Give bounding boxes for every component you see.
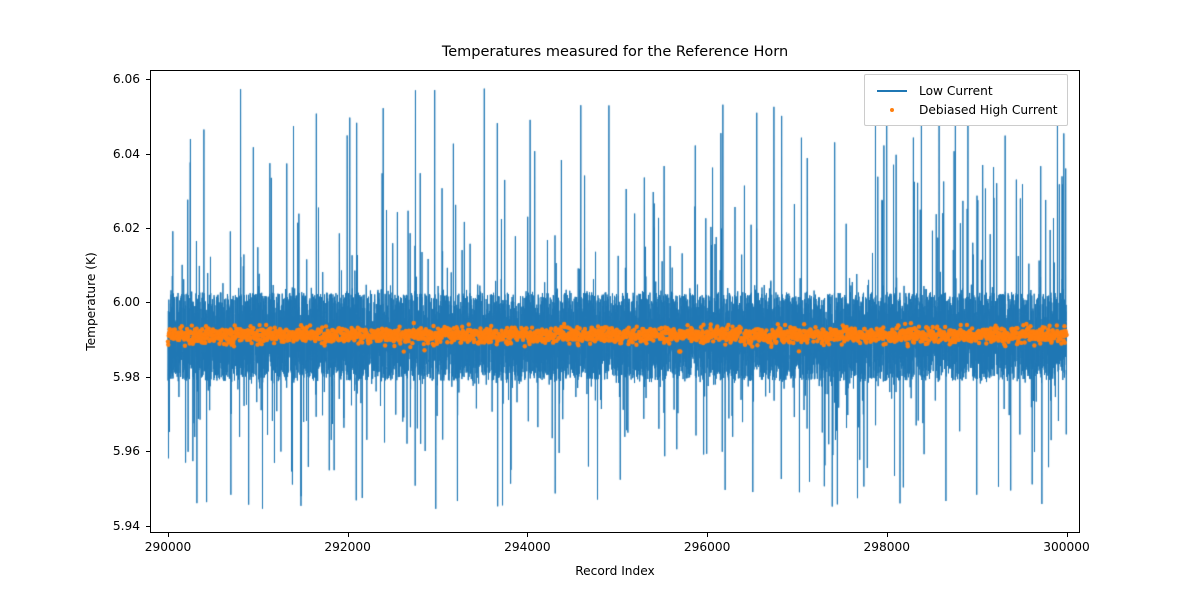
y-tick-label: 6.02 — [113, 221, 140, 235]
x-tick-mark — [707, 533, 708, 537]
x-tick-mark — [348, 533, 349, 537]
y-tick-label: 6.04 — [113, 147, 140, 161]
plot-data-canvas — [151, 71, 1079, 532]
x-tick-label: 298000 — [864, 540, 911, 554]
y-tick-label: 6.06 — [113, 72, 140, 86]
x-tick-label: 296000 — [684, 540, 731, 554]
y-tick-mark — [146, 526, 150, 527]
matplotlib-figure: Temperatures measured for the Reference … — [0, 0, 1200, 600]
y-tick-mark — [146, 302, 150, 303]
y-tick-label: 6.00 — [113, 295, 140, 309]
y-tick-label: 5.94 — [113, 519, 140, 533]
x-tick-mark — [1067, 533, 1068, 537]
x-axis-label: Record Index — [150, 564, 1080, 578]
legend-line-icon — [874, 90, 910, 92]
y-tick-mark — [146, 377, 150, 378]
legend-marker-icon — [874, 108, 910, 112]
legend-label-debiased-high-current: Debiased High Current — [910, 103, 1058, 117]
x-tick-label: 300000 — [1043, 540, 1090, 554]
x-tick-mark — [527, 533, 528, 537]
x-tick-mark — [168, 533, 169, 537]
x-tick-label: 294000 — [504, 540, 551, 554]
legend-label-low-current: Low Current — [910, 84, 993, 98]
y-tick-mark — [146, 154, 150, 155]
y-tick-label: 5.96 — [113, 444, 140, 458]
x-tick-mark — [887, 533, 888, 537]
y-tick-mark — [146, 451, 150, 452]
y-tick-mark — [146, 79, 150, 80]
chart-legend: Low Current Debiased High Current — [864, 74, 1068, 126]
y-tick-mark — [146, 228, 150, 229]
x-tick-label: 292000 — [324, 540, 371, 554]
chart-title: Temperatures measured for the Reference … — [150, 44, 1080, 60]
legend-item-debiased-high-current: Debiased High Current — [874, 100, 1058, 119]
y-axis-label: Temperature (K) — [80, 70, 102, 533]
y-tick-label: 5.98 — [113, 370, 140, 384]
legend-item-low-current: Low Current — [874, 81, 1058, 100]
x-tick-label: 290000 — [145, 540, 192, 554]
